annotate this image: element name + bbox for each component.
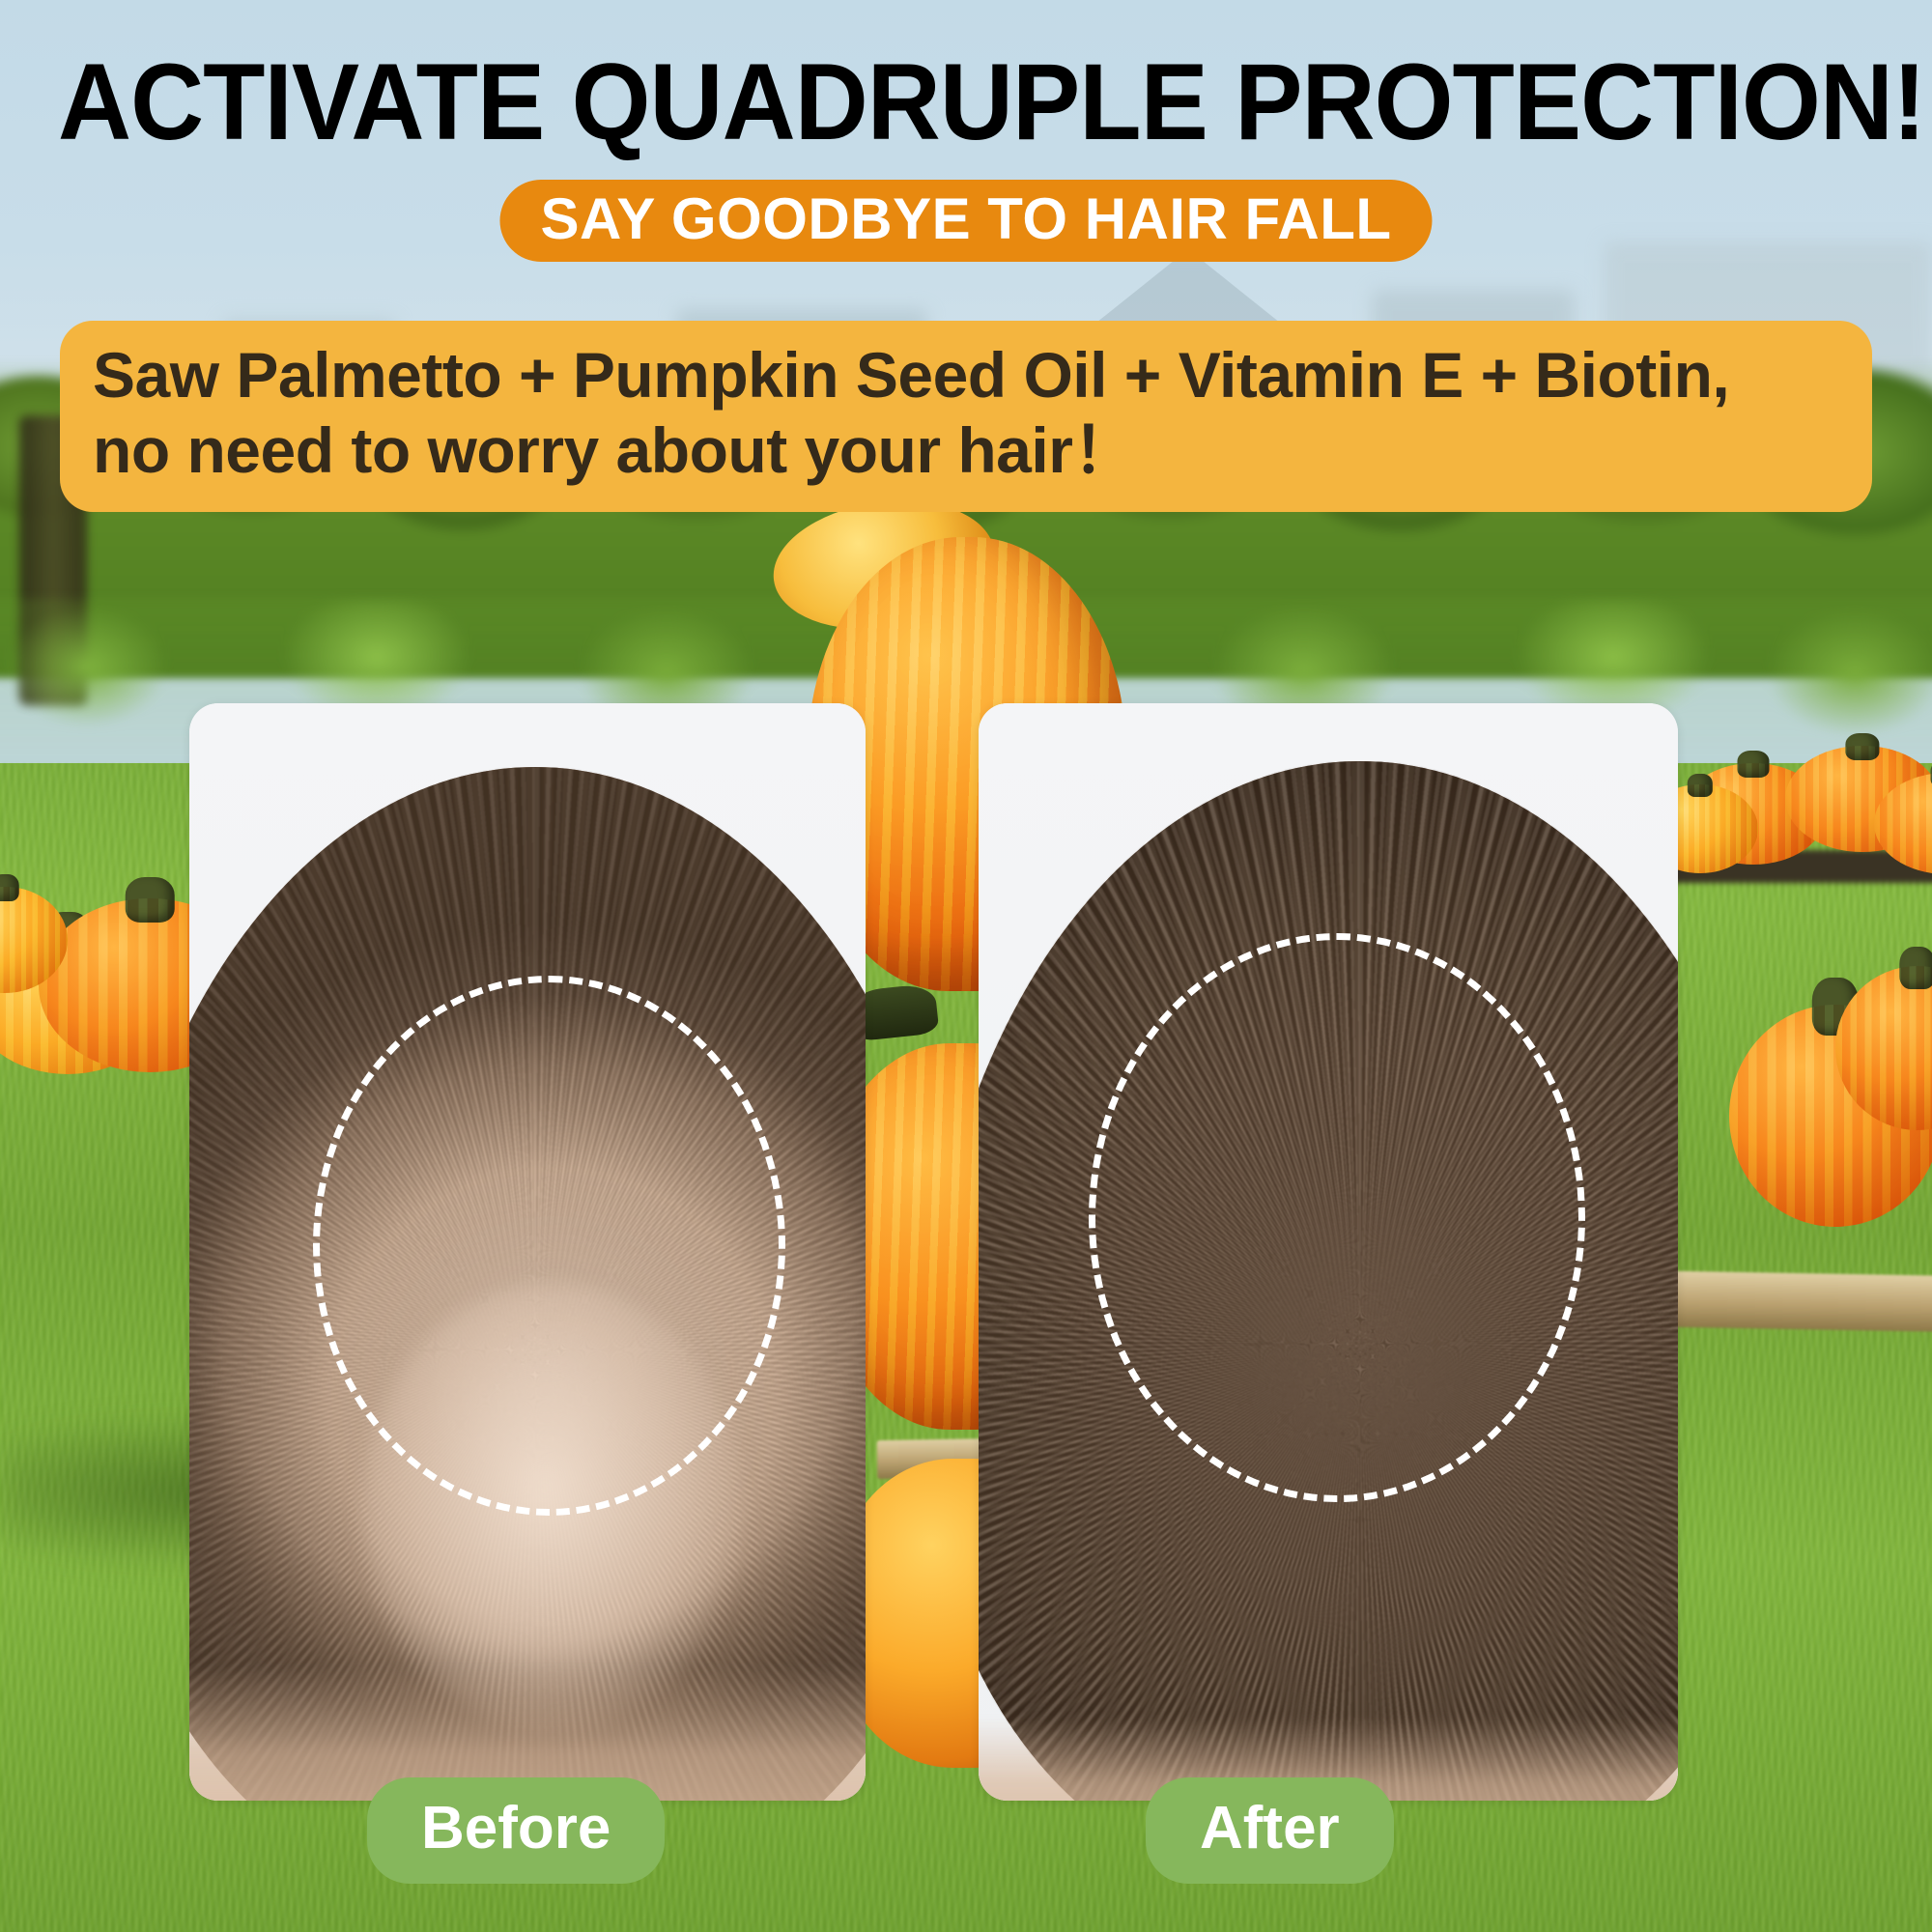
pumpkin-row-r1-stem — [1738, 751, 1770, 777]
pumpkin-row-r2-stem — [1845, 733, 1879, 761]
pumpkin-left-orange-stem — [126, 877, 175, 923]
page-title: ACTIVATE QUADRUPLE PROTECTION! — [58, 48, 1874, 156]
after-scalp-photo — [979, 761, 1678, 1801]
ingredients-callout: Saw Palmetto + Pumpkin Seed Oil + Vitami… — [60, 321, 1872, 512]
after-label-badge: After — [1146, 1777, 1394, 1884]
pumpkin-row-r4-stem — [1688, 774, 1713, 797]
ingredients-line-1: Saw Palmetto + Pumpkin Seed Oil + Vitami… — [93, 339, 1729, 411]
after-photo-panel — [979, 703, 1678, 1801]
ingredients-line-2: no need to worry about your hair！ — [93, 413, 1843, 489]
pumpkin-right-mid-stem — [1899, 947, 1932, 989]
subheadline-pill: SAY GOODBYE TO HAIR FALL — [499, 180, 1432, 262]
before-bald-crown — [361, 1283, 744, 1731]
before-label-badge: Before — [367, 1777, 665, 1884]
before-photo-panel — [189, 703, 866, 1801]
before-scalp-photo — [189, 767, 866, 1801]
pallet-right — [1642, 1270, 1932, 1332]
after-hair-strands-fine — [979, 761, 1678, 1801]
hair-growth-ad-creative: ACTIVATE QUADRUPLE PROTECTION! SAY GOODB… — [0, 0, 1932, 1932]
pumpkin-left-small-stem — [0, 874, 18, 902]
